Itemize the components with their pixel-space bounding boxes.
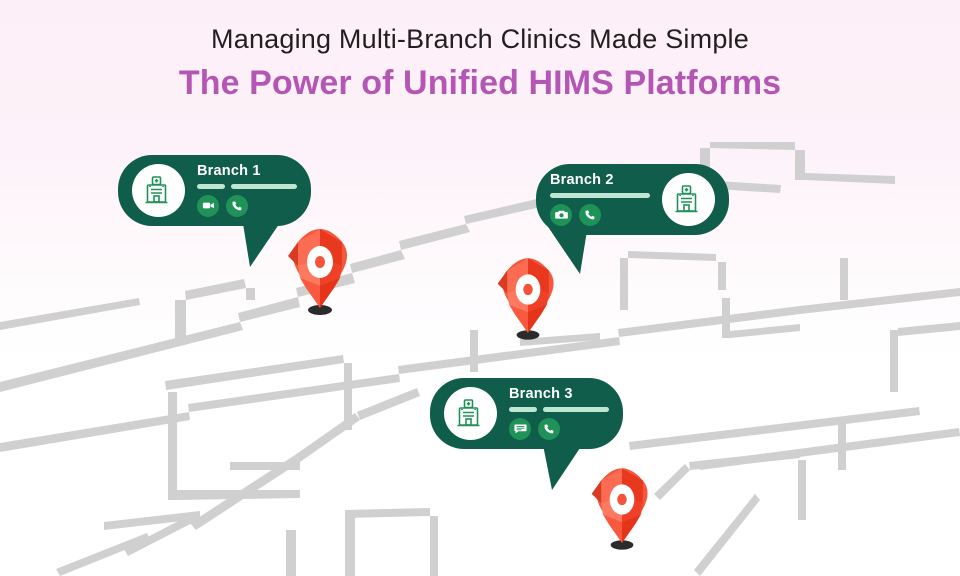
branch-2-actions bbox=[550, 204, 601, 226]
placeholder-bar bbox=[550, 193, 650, 198]
branch-2-placeholder-bars bbox=[550, 193, 650, 198]
headline-group: Managing Multi-Branch Clinics Made Simpl… bbox=[0, 24, 960, 103]
phone-call-button[interactable] bbox=[538, 418, 560, 440]
branch-1-actions bbox=[197, 195, 297, 217]
branch-3-label: Branch 3 bbox=[509, 387, 609, 402]
branch-card-3-body: Branch 3 bbox=[509, 387, 609, 440]
video-call-button[interactable] bbox=[197, 195, 219, 217]
phone-call-button[interactable] bbox=[226, 195, 248, 217]
page-subtitle: The Power of Unified HIMS Platforms bbox=[0, 63, 960, 103]
placeholder-bar bbox=[197, 184, 225, 189]
hospital-icon bbox=[132, 164, 185, 217]
branch-3-placeholder-bars bbox=[509, 407, 609, 412]
branch-card-2[interactable]: Branch 2 bbox=[536, 164, 729, 235]
branch-card-3[interactable]: Branch 3 bbox=[430, 378, 623, 449]
branch-1-placeholder-bars bbox=[197, 184, 297, 189]
placeholder-bar bbox=[543, 407, 609, 412]
message-button[interactable] bbox=[509, 418, 531, 440]
placeholder-bar bbox=[509, 407, 537, 412]
page-title: Managing Multi-Branch Clinics Made Simpl… bbox=[0, 24, 960, 56]
branch-2-label: Branch 2 bbox=[550, 173, 614, 188]
branch-1-label: Branch 1 bbox=[197, 164, 297, 179]
placeholder-bar bbox=[231, 184, 297, 189]
phone-call-button[interactable] bbox=[579, 204, 601, 226]
hospital-icon bbox=[662, 173, 715, 226]
illustration-canvas: Managing Multi-Branch Clinics Made Simpl… bbox=[0, 0, 960, 576]
branch-card-2-body: Branch 2 bbox=[550, 173, 650, 226]
branch-card-1-body: Branch 1 bbox=[197, 164, 297, 217]
photo-button[interactable] bbox=[550, 204, 572, 226]
branch-card-1[interactable]: Branch 1 bbox=[118, 155, 311, 226]
hospital-icon bbox=[444, 387, 497, 440]
branch-3-actions bbox=[509, 418, 609, 440]
